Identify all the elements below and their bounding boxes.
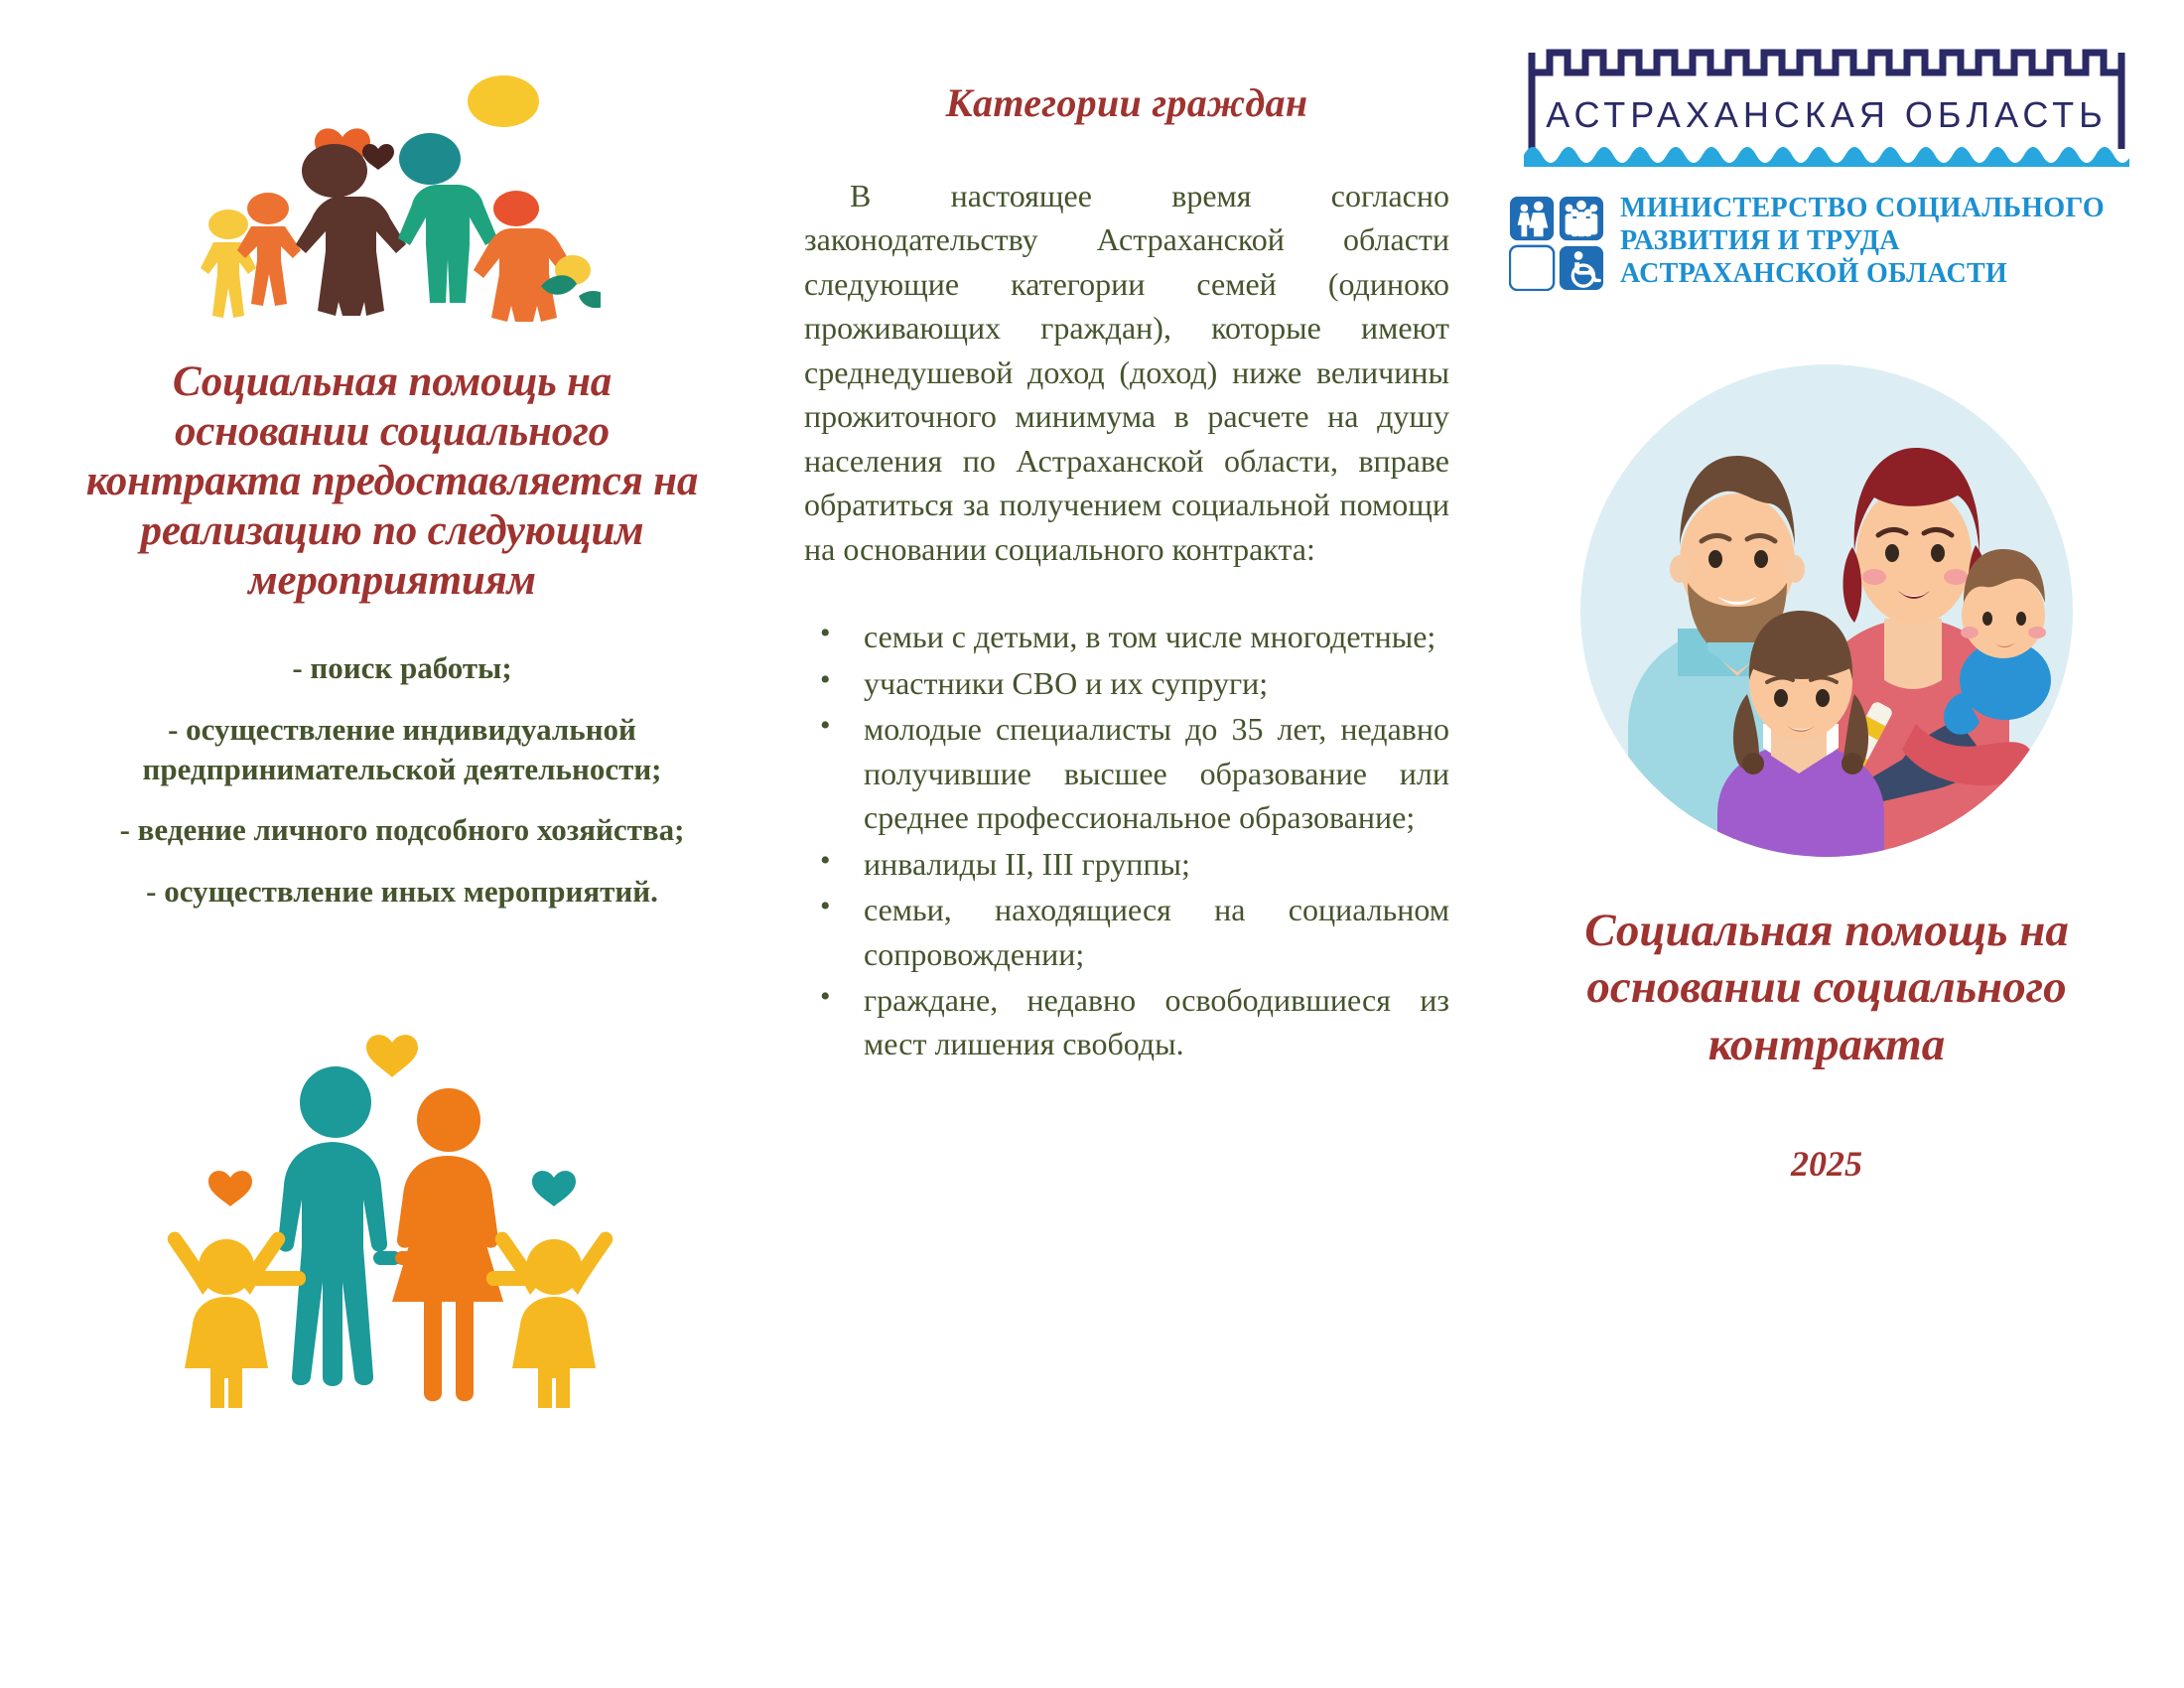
left-headline: Социальная помощь на основании социально… [74,357,710,605]
ministry-name: МИНИСТЕРСТВО СОЦИАЛЬНОГО РАЗВИТИЯ И ТРУД… [1620,193,2105,290]
family-pictogram-illustration [159,1021,625,1408]
measure-item: - ведение личного подсобного хозяйства; [40,810,764,850]
list-item: граждане, недавно освободившиеся из мест… [814,978,1449,1066]
measure-item: - осуществление иных мероприятий. [40,872,764,912]
intro-paragraph: В настоящее время согласно законодательс… [804,174,1449,571]
brochure-page: Социальная помощь на основании социально… [0,0,2184,1688]
list-item-text: молодые специалисты до 35 лет, недавно п… [864,707,1449,839]
list-item: семьи, находящиеся на социальном сопрово… [814,888,1449,976]
ministry-line-2: РАЗВИТИЯ И ТРУДА [1620,225,2105,258]
measure-item: - осуществление индивидуальной предприни… [40,710,764,788]
list-item-text: участники СВО и их супруги; [864,661,1449,705]
brochure-title: Социальная помощь на основании социально… [1499,903,2154,1073]
page-title: Категории граждан [804,79,1449,126]
measures-list: - поиск работы; - осуществление индивиду… [40,648,764,911]
ministry-line-3: АСТРАХАНСКОЙ ОБЛАСТИ [1620,258,2105,291]
family-portrait-illustration [1569,352,2085,869]
year-label: 2025 [1499,1143,2154,1185]
blank-tile-icon [1510,246,1554,290]
ministry-logo: МИНИСТЕРСТВО СОЦИАЛЬНОГО РАЗВИТИЯ И ТРУД… [1509,193,2154,291]
ministry-icon-grid [1509,196,1604,291]
list-item-text: семьи с детьми, в том числе многодетные; [864,615,1449,658]
list-item-text: семьи, находящиеся на социальном сопрово… [864,888,1449,976]
right-panel: АСТРАХАНСКАЯ ОБЛАСТЬ [1469,0,2184,1688]
list-item: инвалиды II, III группы; [814,842,1449,886]
list-item: участники СВО и их супруги; [814,661,1449,705]
measure-item: - поиск работы; [40,648,764,688]
region-logo-text: АСТРАХАНСКАЯ ОБЛАСТЬ [1546,94,2108,135]
middle-panel: Категории граждан В настоящее время согл… [784,0,1469,1688]
list-item-text: инвалиды II, III группы; [864,842,1449,886]
list-item: семьи с детьми, в том числе многодетные; [814,615,1449,658]
family-group-illustration [184,40,601,328]
left-panel: Социальная помощь на основании социально… [0,0,784,1688]
astrakhan-region-logo: АСТРАХАНСКАЯ ОБЛАСТЬ [1524,28,2129,167]
list-item: молодые специалисты до 35 лет, недавно п… [814,707,1449,839]
categories-list: семьи с детьми, в том числе многодетные;… [804,615,1449,1066]
ministry-line-1: МИНИСТЕРСТВО СОЦИАЛЬНОГО [1620,193,2105,225]
list-item-text: граждане, недавно освободившиеся из мест… [864,978,1449,1066]
